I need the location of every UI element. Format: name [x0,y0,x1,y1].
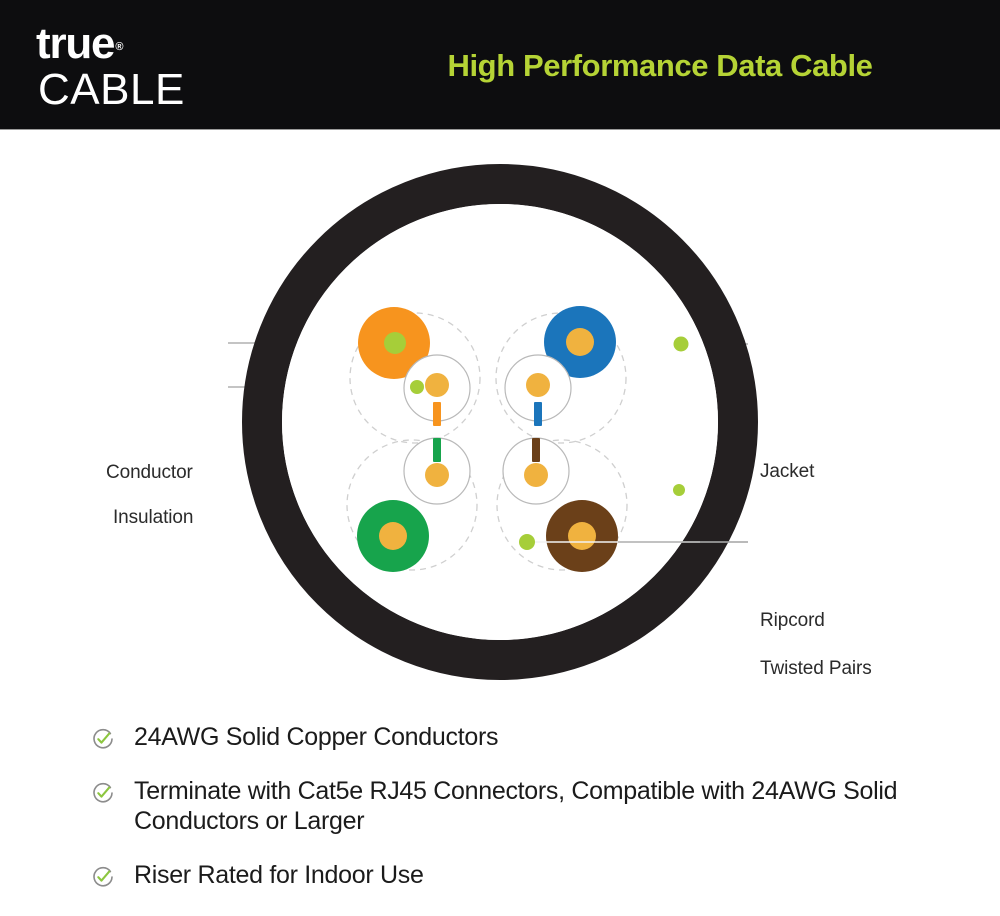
callout-label-insulation: Insulation [113,507,193,529]
product-infographic: true® CABLE High Performance Data Cable [0,0,1000,916]
copper-core-brown [568,522,596,550]
marker-dot-ripcord [673,484,685,496]
copper-core-blue [566,328,594,356]
copper-core-white-orange [425,373,449,397]
stripe-orange [433,402,441,426]
cable-cross-section-diagram: Conductor Insulation Jacket Ripcord Twis… [0,130,1000,715]
header-bar: true® CABLE High Performance Data Cable [0,0,1000,130]
callout-label-conductor: Conductor [106,462,193,484]
stripe-blue [534,402,542,426]
callout-label-jacket: Jacket [760,461,814,483]
feature-text: Riser Rated for Indoor Use [134,860,424,891]
check-circle-icon [92,866,114,888]
marker-dot-twisted-pairs [519,534,535,550]
copper-core-green [379,522,407,550]
stripe-brown [532,438,540,462]
copper-core-white-green [425,463,449,487]
marker-dot-insulation [410,380,424,394]
stripe-green [433,438,441,462]
feature-item: Terminate with Cat5e RJ45 Connectors, Co… [0,776,1000,837]
callout-label-twisted-pairs: Twisted Pairs [760,658,872,680]
callout-label-ripcord: Ripcord [760,610,825,632]
feature-item: Riser Rated for Indoor Use [0,860,1000,891]
check-circle-icon [92,728,114,750]
feature-text: Terminate with Cat5e RJ45 Connectors, Co… [134,776,934,837]
cable-core [282,204,718,640]
marker-dot-jacket [674,337,689,352]
feature-item: 24AWG Solid Copper Conductors [0,722,1000,753]
check-circle-icon [92,782,114,804]
feature-list: 24AWG Solid Copper Conductors Terminate … [0,722,1000,913]
marker-dot-conductor [384,332,406,354]
feature-text: 24AWG Solid Copper Conductors [134,722,498,753]
page-title: High Performance Data Cable [0,48,1000,84]
copper-core-white-blue [526,373,550,397]
copper-core-white-brown [524,463,548,487]
